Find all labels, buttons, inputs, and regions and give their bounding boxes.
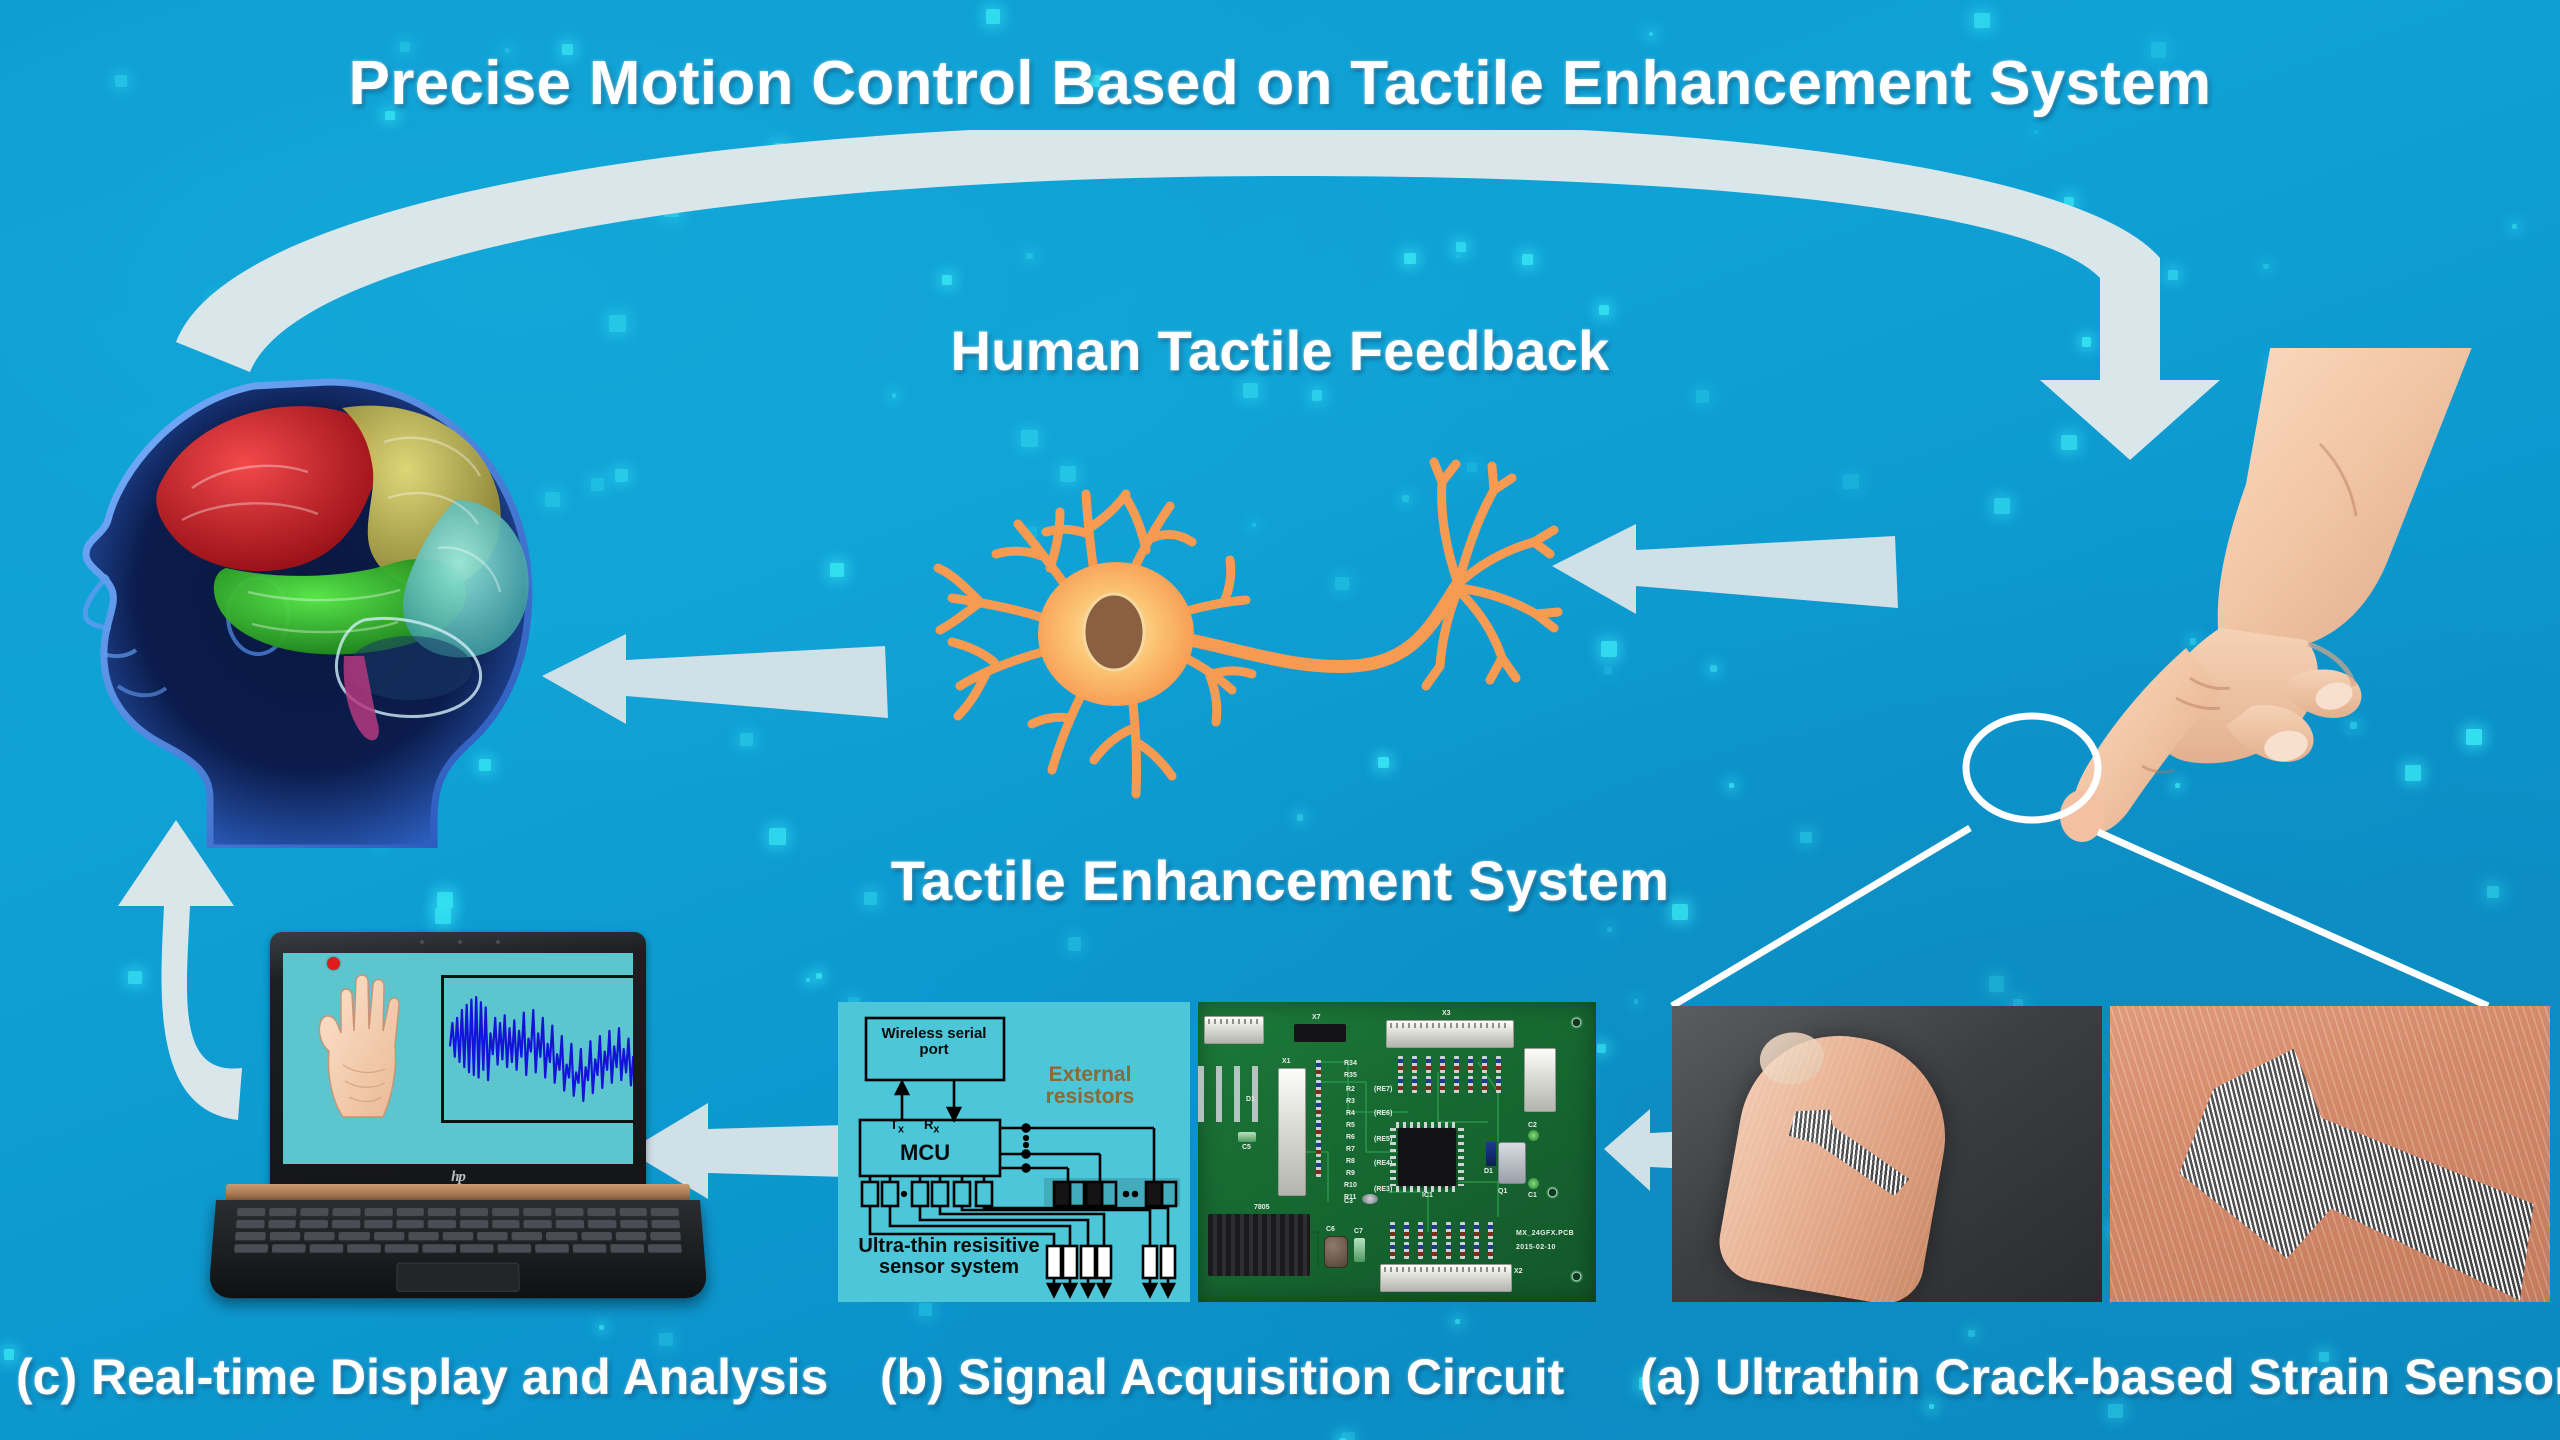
keyboard-key (396, 1208, 424, 1217)
keyboard-key (332, 1208, 360, 1217)
pcb-silk-c2: C2 (1528, 1122, 1537, 1129)
keyboard-key (615, 1232, 646, 1241)
pcb-silk-c7: C7 (1354, 1228, 1363, 1235)
keyboard-key (492, 1220, 520, 1229)
pcb-silk-r34: R34 (1344, 1060, 1357, 1067)
pcb-cap-c7 (1354, 1238, 1365, 1262)
keyboard-key (300, 1220, 328, 1229)
keyboard-key (535, 1244, 569, 1253)
circuit-sensor-system-label: Ultra-thin resisitive sensor system (854, 1236, 1044, 1278)
keyboard-key (364, 1220, 392, 1229)
pcb-silk-c6: C6 (1326, 1226, 1335, 1233)
pcb-connector-x2 (1380, 1264, 1512, 1292)
keyboard-key (428, 1208, 456, 1217)
pcb-silk-r35: R35 (1344, 1072, 1357, 1079)
circuit-wireless-serial-port-label: Wireless serial port (874, 1026, 994, 1057)
keyboard-key (373, 1232, 404, 1241)
keyboard-key (236, 1220, 265, 1229)
keyboard-key (492, 1208, 520, 1217)
pcb-silk-r9: R9 (1346, 1170, 1355, 1177)
pcb-main-ic (1398, 1128, 1456, 1186)
pcb-silk-date-code: 2015-02-10 (1516, 1244, 1556, 1251)
pcb-silk-x2: X2 (1514, 1268, 1523, 1275)
keyboard-key (272, 1244, 306, 1253)
pcb-diode-d1 (1486, 1142, 1496, 1166)
webcam-row (270, 940, 646, 946)
keyboard-key (648, 1244, 682, 1253)
keyboard-key (332, 1220, 360, 1229)
caption-a-strain-sensor: (a) Ultrathin Crack-based Strain Sensor (1640, 1348, 2560, 1406)
keyboard-key (309, 1244, 343, 1253)
keyboard-key (396, 1220, 424, 1229)
pcb-silk-board-id: MX_24GFX.PCB (1516, 1230, 1574, 1237)
keyboard-key (546, 1232, 577, 1241)
pcb-crystal-q1 (1498, 1142, 1526, 1184)
pcb-silk-d1: D1 (1484, 1168, 1493, 1175)
screen-marker-dot (327, 957, 340, 970)
pcb-cap-c1 (1528, 1178, 1539, 1189)
circuit-block-diagram: Wireless serial port Tx Rx MCU External … (838, 1002, 1190, 1302)
magnifier-callout (1600, 710, 2560, 1010)
keyboard-key (512, 1232, 543, 1241)
laptop-lid: hp (270, 932, 646, 1190)
neuron-icon (860, 398, 1600, 828)
pcb-header-x7 (1294, 1024, 1346, 1042)
keyboard-key (652, 1220, 681, 1229)
pcb-connector-right (1524, 1048, 1556, 1112)
keyboard-key (556, 1220, 584, 1229)
sensor-photo-fingertip (1672, 1006, 2102, 1302)
pcb-cap-c3 (1362, 1194, 1378, 1204)
pcb-silk-7805: 7805 (1254, 1204, 1270, 1211)
pcb-cap-c6 (1324, 1236, 1348, 1268)
circuit-rx-label: Rx (924, 1118, 939, 1136)
pcb-silk-r3: R3 (1346, 1098, 1355, 1105)
laptop-illustration: hp (208, 928, 708, 1324)
keyboard-key (460, 1220, 488, 1229)
keyboard-key (270, 1232, 301, 1241)
pcb-silk-r10: R10 (1344, 1182, 1357, 1189)
keyboard-key (573, 1244, 607, 1253)
circuit-external-resistors-label: External resistors (1030, 1064, 1150, 1108)
head-silhouette-icon (42, 368, 602, 848)
keyboard-key (524, 1208, 552, 1217)
pcb-silk-ic1: IC1 (1422, 1192, 1433, 1199)
pcb-via (1546, 1186, 1559, 1199)
keyboard-key (588, 1220, 616, 1229)
pcb-silk-re7: (RE7) (1374, 1086, 1392, 1093)
pcb-connector-x1 (1278, 1068, 1306, 1196)
laptop-trackpad (396, 1263, 520, 1292)
pcb-heatsink-7805 (1208, 1214, 1310, 1276)
page-title: Precise Motion Control Based on Tactile … (0, 48, 2560, 119)
laptop-screen (283, 953, 633, 1164)
pcb-silk-re3: (RE3) (1374, 1186, 1392, 1193)
pcb-silk-x3: X3 (1442, 1010, 1451, 1017)
keyboard-key (339, 1232, 370, 1241)
fingertip (1713, 1020, 1961, 1302)
pcb-silk-r2: R2 (1346, 1086, 1355, 1093)
circuit-mcu-label: MCU (900, 1142, 950, 1165)
keyboard-key (268, 1220, 296, 1229)
pcb-cap-c2 (1528, 1130, 1539, 1141)
keyboard-key (620, 1220, 648, 1229)
pcb-silk-r5: R5 (1346, 1122, 1355, 1129)
pcb-silk-r7: R7 (1346, 1146, 1355, 1153)
circuit-tx-label: Tx (890, 1118, 904, 1136)
pcb-silk-d1-left: D1 (1246, 1096, 1255, 1103)
screen-hand-icon (307, 969, 425, 1119)
pcb-left-pad-array (1198, 1066, 1264, 1122)
caption-b-signal-acquisition: (b) Signal Acquisition Circuit (880, 1348, 1564, 1406)
pcb-silk-c5: C5 (1242, 1144, 1251, 1151)
keyboard-key (235, 1232, 266, 1241)
neuron-illustration (860, 398, 1600, 828)
keyboard-key (581, 1232, 612, 1241)
keyboard-key (408, 1232, 439, 1241)
keyboard-key (477, 1232, 508, 1241)
keyboard-key (364, 1208, 392, 1217)
keyboard-key (524, 1220, 552, 1229)
keyboard-key (555, 1208, 583, 1217)
keyboard-key (651, 1208, 679, 1217)
keyboard-key (269, 1208, 297, 1217)
caption-c-realtime-display: (c) Real-time Display and Analysis (16, 1348, 828, 1406)
pcb-silk-c1: C1 (1528, 1192, 1537, 1199)
keyboard-key (385, 1244, 419, 1253)
pcb-silk-re6: (RE6) (1374, 1110, 1392, 1117)
keyboard-key (301, 1208, 329, 1217)
keyboard-key (234, 1244, 268, 1253)
waveform-line (444, 978, 633, 1120)
keyboard-key (460, 1208, 488, 1217)
keyboard-key (498, 1244, 532, 1253)
keyboard-key (610, 1244, 644, 1253)
keyboard-key (422, 1244, 456, 1253)
figure-canvas: Precise Motion Control Based on Tactile … (0, 0, 2560, 1440)
fingerprint-ridges (1713, 1020, 1961, 1302)
keyboard-key (347, 1244, 381, 1253)
fingernail (1756, 1028, 1827, 1088)
screen-waveform-plot (441, 975, 633, 1123)
keyboard-key (460, 1244, 494, 1253)
human-head-brain-illustration (42, 368, 602, 848)
pcb-silk-q1: Q1 (1498, 1188, 1507, 1195)
pcb-silk-x1: X1 (1282, 1058, 1291, 1065)
pcb-silk-r6: R6 (1346, 1134, 1355, 1141)
keyboard-key (428, 1220, 456, 1229)
keyboard-key (443, 1232, 474, 1241)
pcb-photo: X7 X3 X1 X2 R34 R35 R2 R3 R4 R5 R6 R7 R8… (1198, 1002, 1596, 1302)
pcb-cap-c5 (1238, 1132, 1256, 1142)
keyboard-key (650, 1232, 681, 1241)
crack-sensor-film (1782, 1096, 1920, 1199)
keyboard-key (304, 1232, 335, 1241)
laptop-keyboard (208, 1200, 708, 1298)
keyboard-key (237, 1208, 265, 1217)
keyboard-key (587, 1208, 615, 1217)
pcb-silk-r8: R8 (1346, 1158, 1355, 1165)
sensor-photo-closeup (2110, 1006, 2550, 1302)
pcb-connector-x3 (1386, 1020, 1514, 1048)
pcb-silk-x7: X7 (1312, 1014, 1321, 1021)
keyboard-key (619, 1208, 647, 1217)
pcb-silk-r4: R4 (1346, 1110, 1355, 1117)
pcb-silk-c3: C3 (1344, 1198, 1353, 1205)
pcb-connector-x4 (1204, 1016, 1264, 1044)
